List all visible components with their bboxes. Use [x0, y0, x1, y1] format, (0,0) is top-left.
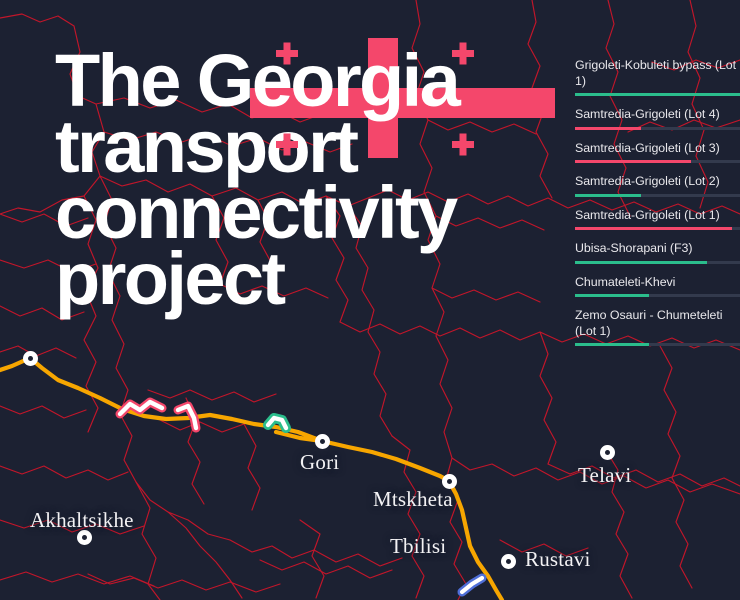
city-label-gori: Gori [300, 450, 339, 475]
city-label-akhaltsikhe: Akhaltsikhe [30, 508, 134, 533]
page-title: The Georgia transport connectivity proje… [55, 48, 555, 312]
legend-label: Ubisa-Shorapani (F3) [575, 241, 740, 257]
legend-progress-fill [575, 127, 641, 130]
legend-item-samtredia-grigoleti-lot-2[interactable]: Samtredia-Grigoleti (Lot 2) [575, 174, 740, 197]
legend-progress-fill [575, 343, 649, 346]
legend-progress-fill [575, 261, 707, 264]
legend-progress-track [575, 194, 740, 197]
city-marker-gori[interactable] [315, 434, 330, 449]
legend-item-zemo-osauri-chumeteleti-lot-1[interactable]: Zemo Osauri - Chumeteleti (Lot 1) [575, 308, 740, 346]
legend-progress-fill [575, 194, 641, 197]
city-marker-rustavi[interactable] [501, 554, 516, 569]
city-marker-unlabelled-west[interactable] [23, 351, 38, 366]
infographic-root: Gori Akhaltsikhe Mtskheta Tbilisi Rustav… [0, 0, 740, 600]
legend-label: Chumateleti-Khevi [575, 275, 740, 291]
legend-item-ubisa-shorapani-f3[interactable]: Ubisa-Shorapani (F3) [575, 241, 740, 264]
legend-label: Grigoleti-Kobuleti bypass (Lot 1) [575, 58, 740, 89]
legend-item-grigoleti-kobuleti-bypass-lot-1[interactable]: Grigoleti-Kobuleti bypass (Lot 1) [575, 58, 740, 96]
title-line-1: The Georgia [55, 48, 555, 114]
legend-item-samtredia-grigoleti-lot-3[interactable]: Samtredia-Grigoleti (Lot 3) [575, 141, 740, 164]
city-marker-telavi[interactable] [600, 445, 615, 460]
legend-progress-track [575, 343, 740, 346]
legend-progress-fill [575, 227, 732, 230]
legend-progress-track [575, 261, 740, 264]
city-label-telavi: Telavi [578, 463, 631, 488]
legend-item-samtredia-grigoleti-lot-4[interactable]: Samtredia-Grigoleti (Lot 4) [575, 107, 740, 130]
legend-progress-track [575, 93, 740, 96]
legend-label: Samtredia-Grigoleti (Lot 2) [575, 174, 740, 190]
legend-item-chumateleti-khevi[interactable]: Chumateleti-Khevi [575, 275, 740, 298]
legend-item-samtredia-grigoleti-lot-1[interactable]: Samtredia-Grigoleti (Lot 1) [575, 208, 740, 231]
legend-label: Samtredia-Grigoleti (Lot 3) [575, 141, 740, 157]
city-label-tbilisi: Tbilisi [390, 534, 446, 559]
legend-progress-track [575, 294, 740, 297]
legend-progress-track [575, 227, 740, 230]
city-label-rustavi: Rustavi [525, 547, 591, 572]
legend-progress-track [575, 127, 740, 130]
title-word-georgia: Georgia [197, 39, 458, 122]
title-line-4: project [55, 246, 555, 312]
city-label-mtskheta: Mtskheta [373, 487, 453, 512]
legend-progress-track [575, 160, 740, 163]
legend-label: Samtredia-Grigoleti (Lot 4) [575, 107, 740, 123]
legend-label: Samtredia-Grigoleti (Lot 1) [575, 208, 740, 224]
legend-label: Zemo Osauri - Chumeteleti (Lot 1) [575, 308, 740, 339]
legend-progress-fill [575, 294, 649, 297]
title-word-the: The [55, 39, 197, 122]
legend-progress-fill [575, 160, 691, 163]
legend-panel: Grigoleti-Kobuleti bypass (Lot 1) Samtre… [575, 58, 740, 357]
legend-progress-fill [575, 93, 740, 96]
